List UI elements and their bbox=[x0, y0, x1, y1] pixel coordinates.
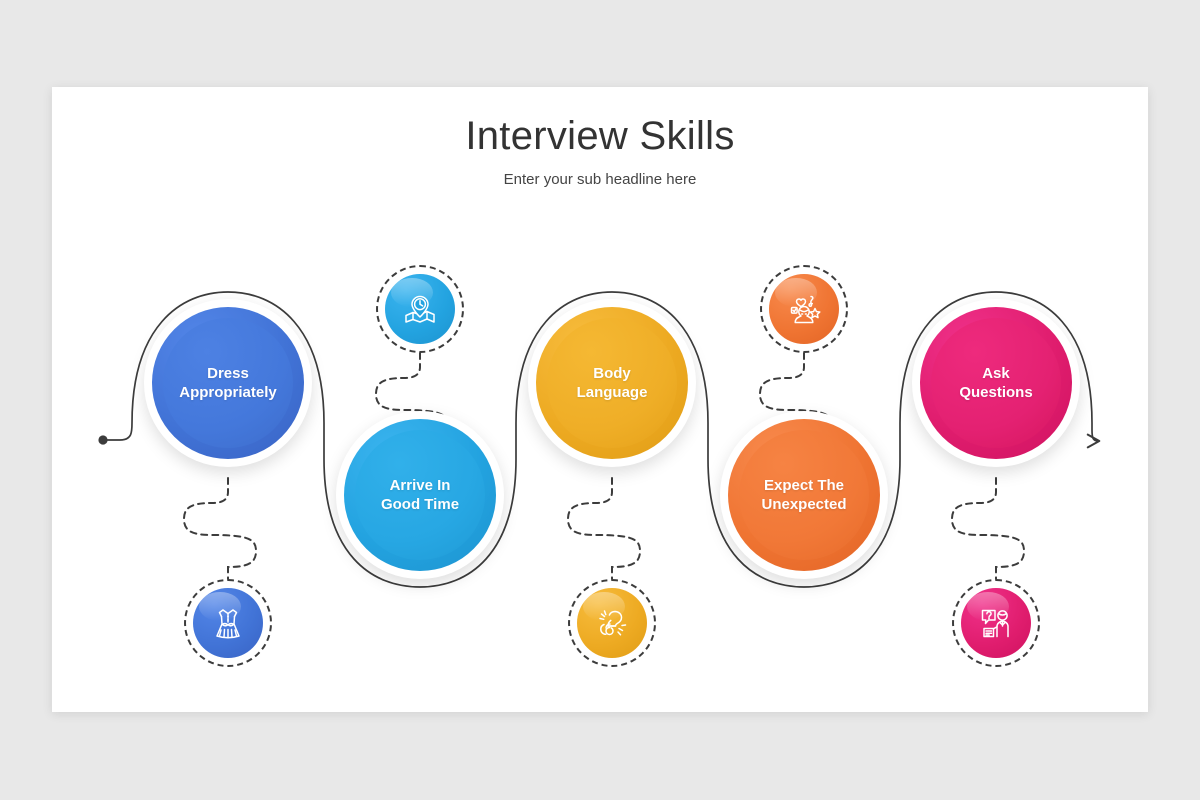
hand-gesture-icon[interactable] bbox=[577, 588, 647, 658]
icon-node-map-pin-clock[interactable] bbox=[376, 265, 464, 353]
map-pin-clock-icon[interactable] bbox=[385, 274, 455, 344]
icon-node-hand-gesture[interactable] bbox=[568, 579, 656, 667]
step-label-3: Body Language bbox=[577, 364, 648, 402]
step-disc-4[interactable]: Expect The Unexpected bbox=[728, 419, 880, 571]
step-node-1[interactable]: Dress Appropriately bbox=[144, 299, 312, 467]
infographic-stage: Interview Skills Enter your sub headline… bbox=[52, 87, 1148, 712]
icon-node-dress[interactable] bbox=[184, 579, 272, 667]
step-node-3[interactable]: Body Language bbox=[528, 299, 696, 467]
icon-node-person-question[interactable] bbox=[952, 579, 1040, 667]
dress-icon[interactable] bbox=[193, 588, 263, 658]
step-label-4: Expect The Unexpected bbox=[761, 476, 846, 514]
step-node-4[interactable]: Expect The Unexpected bbox=[720, 411, 888, 579]
step-node-2[interactable]: Arrive In Good Time bbox=[336, 411, 504, 579]
step-disc-1[interactable]: Dress Appropriately bbox=[152, 307, 304, 459]
step-node-5[interactable]: Ask Questions bbox=[912, 299, 1080, 467]
step-label-5: Ask Questions bbox=[959, 364, 1032, 402]
person-question-icon[interactable] bbox=[961, 588, 1031, 658]
step-disc-5[interactable]: Ask Questions bbox=[920, 307, 1072, 459]
slide-canvas: Interview Skills Enter your sub headline… bbox=[52, 87, 1148, 712]
person-emotions-icon[interactable] bbox=[769, 274, 839, 344]
step-disc-3[interactable]: Body Language bbox=[536, 307, 688, 459]
icon-node-person-emotions[interactable] bbox=[760, 265, 848, 353]
step-label-2: Arrive In Good Time bbox=[381, 476, 459, 514]
step-disc-2[interactable]: Arrive In Good Time bbox=[344, 419, 496, 571]
step-label-1: Dress Appropriately bbox=[179, 364, 277, 402]
path-start-dot bbox=[98, 435, 107, 444]
